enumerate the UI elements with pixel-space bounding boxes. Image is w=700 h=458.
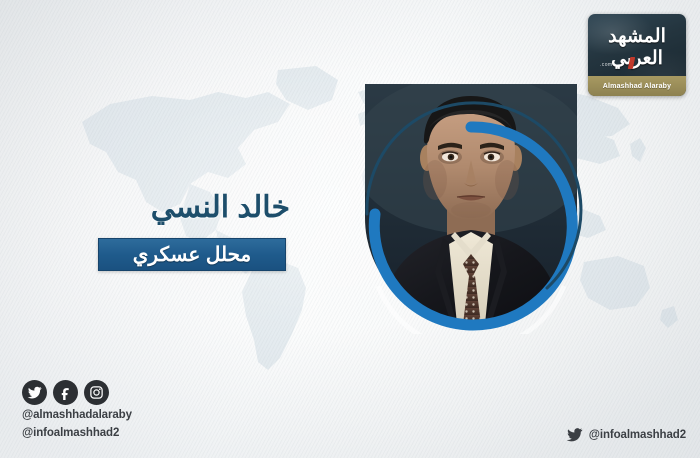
logo-arabic-line-2: العربي [611,49,663,68]
portrait-container [348,84,594,334]
twitter-bird-icon [566,428,583,442]
logo-com-text: .com [600,62,612,68]
person-title-box: محلل عسكري [98,238,286,271]
person-name: خالد النسي [0,190,290,225]
social-handle-primary: @almashhadalaraby [22,408,132,422]
logo-arabic-line-1: المشهد [608,27,666,46]
footer-twitter-block: @infoalmashhad2 [566,428,686,442]
logo-english-name: Almashhad Alaraby [603,83,672,90]
footer-twitter-handle: @infoalmashhad2 [589,428,686,442]
portrait-photo [365,84,577,324]
person-title-label: محلل عسكري [133,242,251,267]
instagram-icon[interactable] [84,380,109,405]
social-icon-row [22,380,132,405]
social-block: @almashhadalaraby @infoalmashhad2 [22,380,132,440]
channel-logo[interactable]: المشهد العربي .com Almashhad Alaraby [588,14,686,96]
promo-card: خالد النسي محلل عسكري المشهد العربي .com… [0,0,700,458]
facebook-icon[interactable] [53,380,78,405]
twitter-icon[interactable] [22,380,47,405]
portrait-photo-clip [365,84,577,324]
logo-name-bar: Almashhad Alaraby [588,76,686,96]
social-handle-secondary: @infoalmashhad2 [22,426,132,440]
